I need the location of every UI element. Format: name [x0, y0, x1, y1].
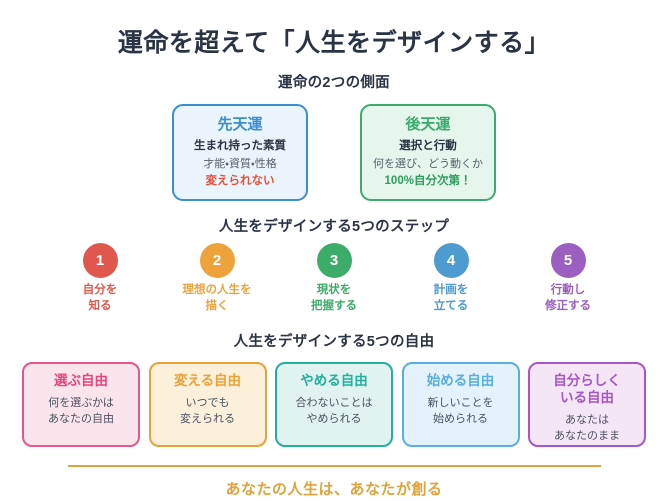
fate-card-title: 先天運 — [180, 115, 300, 135]
step-label: 自分を知る — [46, 283, 154, 314]
step-item-5: 5 行動し修正する — [514, 243, 622, 314]
freedom-card-title: 自分らしくいる自由 — [535, 373, 639, 407]
freedom-card-quit: やめる自由 合わないことはやめられる — [275, 362, 393, 447]
freedom-card-be-yourself: 自分らしくいる自由 あなたはあなたのまま — [528, 362, 646, 447]
step-label: 行動し修正する — [514, 283, 622, 314]
step-number-badge: 5 — [551, 243, 586, 278]
page-title: 運命を超えて「人生をデザインする」 — [0, 0, 668, 58]
fate-card-title: 後天運 — [368, 115, 488, 135]
step-label: 計画を立てる — [397, 283, 505, 314]
step-item-3: 3 現状を把握する — [280, 243, 388, 314]
freedom-card-description: 何を選ぶかはあなたの自由 — [29, 396, 133, 427]
freedom-card-start: 始める自由 新しいことを始められる — [402, 362, 520, 447]
footer: あなたの人生は、あなたが創る — [0, 465, 668, 499]
freedom-card-description: 新しいことを始められる — [409, 396, 513, 427]
step-number-badge: 4 — [434, 243, 469, 278]
section-heading-freedom: 人生をデザインする5つの自由 — [0, 330, 668, 351]
fate-cards-row: 先天運 生まれ持った素質 才能・資質・性格 変えられない 後天運 選択と行動 何… — [0, 104, 668, 201]
freedom-card-description: あなたはあなたのまま — [535, 413, 639, 444]
fate-card-detail: 何を選び、どう動くか — [368, 157, 488, 171]
freedom-card-title: 始める自由 — [409, 373, 513, 390]
step-item-4: 4 計画を立てる — [397, 243, 505, 314]
fate-card-accent: 100%自分次第！ — [368, 174, 488, 189]
freedom-card-title: やめる自由 — [282, 373, 386, 390]
step-label: 理想の人生を描く — [163, 283, 271, 314]
fate-card-innate: 先天運 生まれ持った素質 才能・資質・性格 変えられない — [172, 104, 308, 201]
section-heading-aspects: 運命の2つの側面 — [0, 71, 668, 92]
step-label: 現状を把握する — [280, 283, 388, 314]
freedom-card-title: 変える自由 — [156, 373, 260, 390]
fate-card-accent: 変えられない — [180, 174, 300, 189]
step-number-badge: 1 — [83, 243, 118, 278]
step-item-2: 2 理想の人生を描く — [163, 243, 271, 314]
footer-divider — [68, 465, 601, 467]
freedom-cards-row: 選ぶ自由 何を選ぶかはあなたの自由 変える自由 いつでも変えられる やめる自由 … — [22, 362, 646, 447]
step-item-1: 1 自分を知る — [46, 243, 154, 314]
freedom-card-description: 合わないことはやめられる — [282, 396, 386, 427]
freedom-card-choose: 選ぶ自由 何を選ぶかはあなたの自由 — [22, 362, 140, 447]
step-number-badge: 2 — [200, 243, 235, 278]
fate-card-subtitle: 生まれ持った素質 — [180, 139, 300, 154]
footer-message: あなたの人生は、あなたが創る — [0, 478, 668, 499]
fate-card-acquired: 後天運 選択と行動 何を選び、どう動くか 100%自分次第！ — [360, 104, 496, 201]
section-heading-steps: 人生をデザインする5つのステップ — [0, 215, 668, 236]
freedom-card-change: 変える自由 いつでも変えられる — [149, 362, 267, 447]
infographic-page: 運命を超えて「人生をデザインする」 運命の2つの側面 先天運 生まれ持った素質 … — [0, 0, 668, 501]
fate-card-detail: 才能・資質・性格 — [180, 157, 300, 171]
freedom-card-description: いつでも変えられる — [156, 396, 260, 427]
steps-row: 1 自分を知る 2 理想の人生を描く 3 現状を把握する 4 計画を立てる 5 … — [46, 243, 622, 314]
freedom-card-title: 選ぶ自由 — [29, 373, 133, 390]
step-number-badge: 3 — [317, 243, 352, 278]
fate-card-subtitle: 選択と行動 — [368, 139, 488, 154]
